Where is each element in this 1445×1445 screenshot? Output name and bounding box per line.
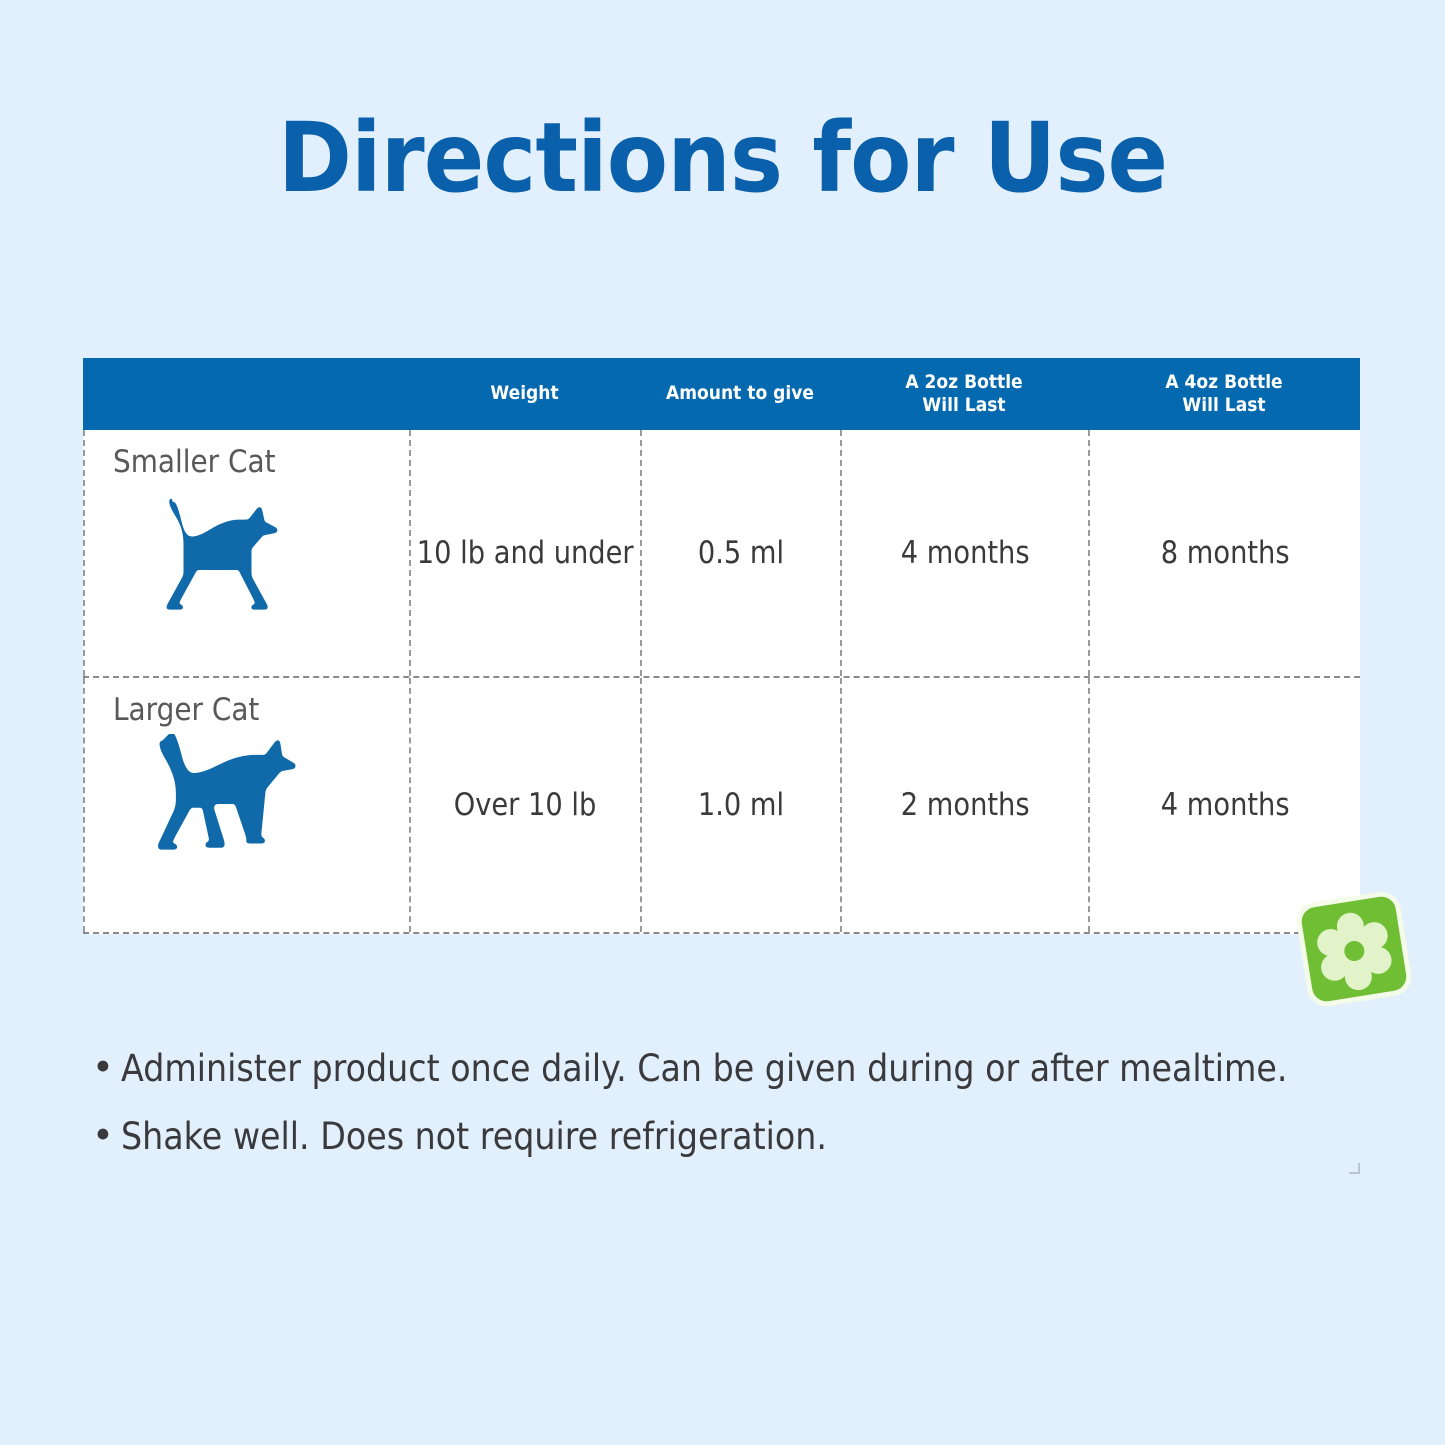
table-body: Smaller Cat 10 lb and under 0.5 ml 4 mon… xyxy=(83,430,1360,934)
table-row: Larger Cat Over 10 lb 1.0 ml 2 months xyxy=(83,676,1360,932)
cell-4oz-value: 8 months xyxy=(1161,535,1290,571)
list-item: • Shake well. Does not require refrigera… xyxy=(92,1114,1382,1160)
cell-weight: 10 lb and under xyxy=(409,430,640,676)
cell-amount-value: 1.0 ml xyxy=(698,787,784,823)
table-header-amount: Amount to give xyxy=(650,382,830,405)
cell-4oz-duration: 4 months xyxy=(1088,678,1360,932)
corner-crop-mark xyxy=(1349,1163,1360,1174)
cell-amount-value: 0.5 ml xyxy=(698,535,784,571)
table-header-row: Weight Amount to give A 2oz Bottle Will … xyxy=(83,358,1360,430)
table-header-4oz-bottle: A 4oz Bottle Will Last xyxy=(1102,371,1347,417)
bullet-marker-icon: • xyxy=(92,1046,114,1090)
green-flower-badge-icon xyxy=(1293,888,1414,1009)
cell-animal-larger-cat: Larger Cat xyxy=(83,678,409,932)
cell-4oz-duration: 8 months xyxy=(1088,430,1360,676)
table-header-4oz-line1: A 4oz Bottle xyxy=(1102,371,1347,394)
table-header-4oz-line2: Will Last xyxy=(1102,394,1347,417)
animal-label: Smaller Cat xyxy=(113,444,276,480)
bullet-marker-icon: • xyxy=(92,1114,114,1158)
dosage-table: Weight Amount to give A 2oz Bottle Will … xyxy=(83,358,1360,934)
list-item: • Administer product once daily. Can be … xyxy=(92,1046,1382,1092)
table-header-weight: Weight xyxy=(421,382,629,405)
cell-2oz-value: 2 months xyxy=(901,787,1030,823)
cell-2oz-value: 4 months xyxy=(901,535,1030,571)
slim-cat-silhouette-icon xyxy=(133,486,293,631)
cell-weight-value: Over 10 lb xyxy=(454,787,597,823)
table-header-2oz-bottle: A 2oz Bottle Will Last xyxy=(852,371,1075,417)
table-header-2oz-line1: A 2oz Bottle xyxy=(852,371,1075,394)
directions-for-use-page: Directions for Use Weight Amount to give… xyxy=(0,0,1445,1445)
cell-2oz-duration: 2 months xyxy=(840,678,1088,932)
cell-4oz-value: 4 months xyxy=(1161,787,1290,823)
list-item-text: Administer product once daily. Can be gi… xyxy=(121,1046,1288,1092)
page-title: Directions for Use xyxy=(51,108,1395,209)
cell-animal-smaller-cat: Smaller Cat xyxy=(83,430,409,676)
cell-amount: 0.5 ml xyxy=(640,430,840,676)
cell-amount: 1.0 ml xyxy=(640,678,840,932)
cell-weight: Over 10 lb xyxy=(409,678,640,932)
animal-label: Larger Cat xyxy=(113,692,259,728)
table-header-2oz-line2: Will Last xyxy=(852,394,1075,417)
large-cat-silhouette-icon xyxy=(133,734,303,891)
list-item-text: Shake well. Does not require refrigerati… xyxy=(121,1114,827,1160)
table-row: Smaller Cat 10 lb and under 0.5 ml 4 mon… xyxy=(83,430,1360,676)
cell-2oz-duration: 4 months xyxy=(840,430,1088,676)
instructions-list: • Administer product once daily. Can be … xyxy=(92,1046,1382,1183)
cell-weight-value: 10 lb and under xyxy=(417,535,634,571)
